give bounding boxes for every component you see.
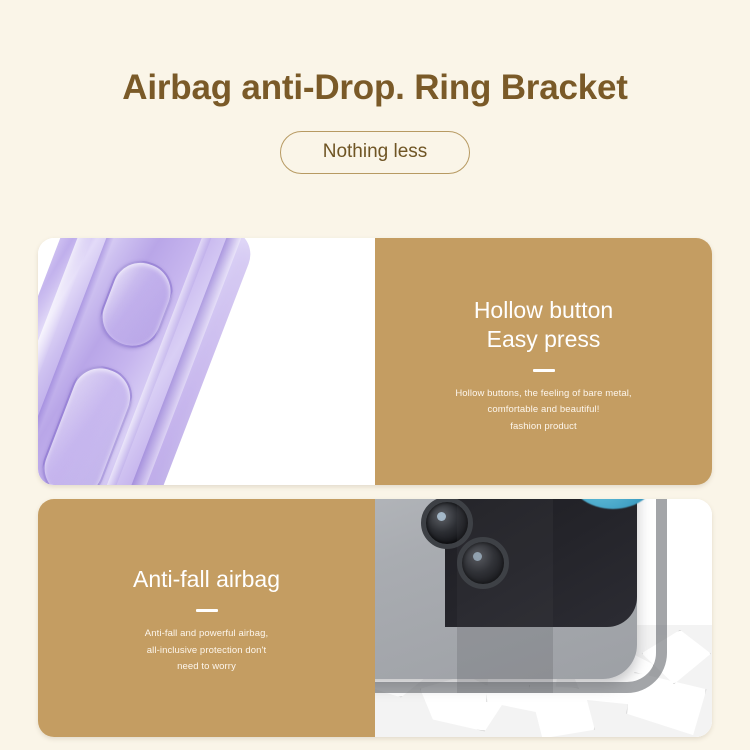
purple-case-button-cutout-photo	[38, 238, 375, 485]
tagline-pill: Nothing less	[280, 131, 471, 174]
crack-photo-scene	[375, 499, 712, 737]
panel-body-text: Anti-fall and powerful airbag, all-inclu…	[145, 626, 268, 675]
heading-divider	[533, 369, 555, 372]
page-header: Airbag anti-Drop. Ring Bracket Nothing l…	[0, 0, 750, 174]
page-title: Airbag anti-Drop. Ring Bracket	[0, 68, 750, 108]
panel-body-text: Hollow buttons, the feeling of bare meta…	[455, 386, 631, 435]
feature-card-anti-fall-airbag: Anti-fall airbag Anti-fall and powerful …	[38, 499, 712, 737]
heading-divider	[196, 609, 218, 612]
lens-reflection	[437, 512, 446, 521]
feature-card-hollow-button: Hollow button Easy press Hollow buttons,…	[38, 238, 712, 485]
panel-heading: Hollow button Easy press	[474, 296, 613, 353]
feature-card-list: Hollow button Easy press Hollow buttons,…	[38, 238, 712, 737]
clear-case-shading	[457, 499, 553, 693]
panel-heading: Anti-fall airbag	[133, 565, 280, 594]
tagline-pill-wrap: Nothing less	[0, 131, 750, 174]
case-photo-scene	[38, 238, 375, 485]
phone-corner-drop-crack-photo	[375, 499, 712, 737]
screen-wallpaper-blob	[567, 499, 659, 509]
purple-case-body	[38, 238, 258, 485]
anti-fall-text-panel: Anti-fall airbag Anti-fall and powerful …	[38, 499, 375, 737]
hollow-button-text-panel: Hollow button Easy press Hollow buttons,…	[375, 238, 712, 485]
